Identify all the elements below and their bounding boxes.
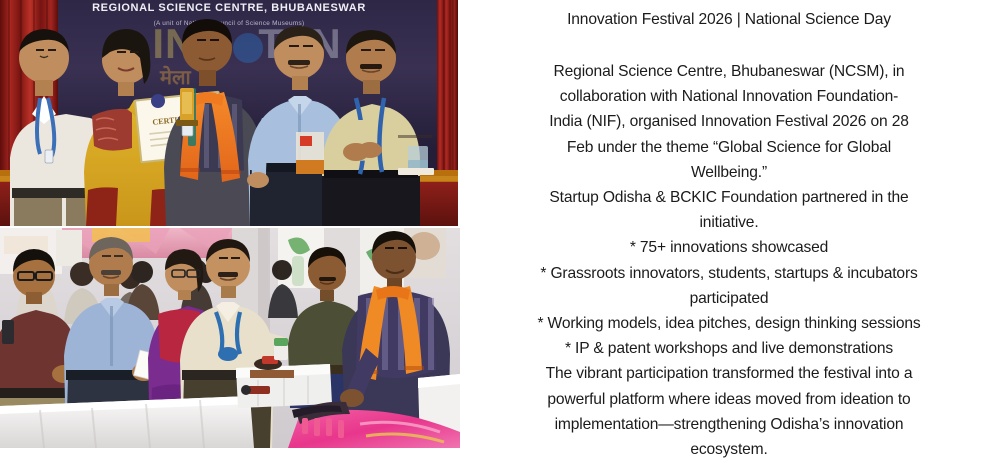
body-line: The vibrant participation transformed th… [488, 361, 970, 386]
wooden-board [250, 370, 294, 378]
body-line: participated [488, 286, 970, 311]
photo-award-ceremony: INN TI N मेला REGIONAL SCIENCE CENTRE, B… [0, 0, 458, 226]
article-body: Regional Science Centre, Bhubaneswar (NC… [488, 59, 970, 462]
body-line: ecosystem. [488, 437, 970, 462]
body-line: * Grassroots innovators, students, start… [488, 261, 970, 286]
curtain-right [437, 0, 458, 175]
exhibition-illustration [0, 228, 460, 448]
body-line: * Working models, idea pitches, design t… [488, 311, 970, 336]
banner-subtitle: (A unit of National Council of Science M… [154, 20, 305, 27]
body-line: Wellbeing.” [488, 160, 970, 185]
article-card: INN TI N मेला REGIONAL SCIENCE CENTRE, B… [0, 0, 998, 448]
page-title: Innovation Festival 2026 | National Scie… [488, 7, 970, 32]
body-line: India (NIF), organised Innovation Festiv… [488, 109, 970, 134]
body-line: collaboration with National Innovation F… [488, 84, 970, 109]
photo-column: INN TI N मेला REGIONAL SCIENCE CENTRE, B… [0, 0, 460, 448]
body-line: Feb under the theme “Global Science for … [488, 135, 970, 160]
body-line: powerful platform where ideas moved from… [488, 387, 970, 412]
article-text-column: Innovation Festival 2026 | National Scie… [460, 0, 998, 448]
award-ceremony-illustration: INN TI N मेला REGIONAL SCIENCE CENTRE, B… [0, 0, 458, 226]
body-line: initiative. [488, 210, 970, 235]
photo-exhibition-hall [0, 228, 460, 448]
svg-text:मेला: मेला [159, 65, 192, 89]
body-line: Regional Science Centre, Bhubaneswar (NC… [488, 59, 970, 84]
body-line: implementation—strengthening Odisha’s in… [488, 412, 970, 437]
mobile-phone [2, 320, 14, 344]
banner-title: REGIONAL SCIENCE CENTRE, BHUBANESWAR [92, 2, 366, 14]
body-line: * IP & patent workshops and live demonst… [488, 336, 970, 361]
body-line: Startup Odisha & BCKIC Foundation partne… [488, 185, 970, 210]
body-line: * 75+ innovations showcased [488, 235, 970, 260]
